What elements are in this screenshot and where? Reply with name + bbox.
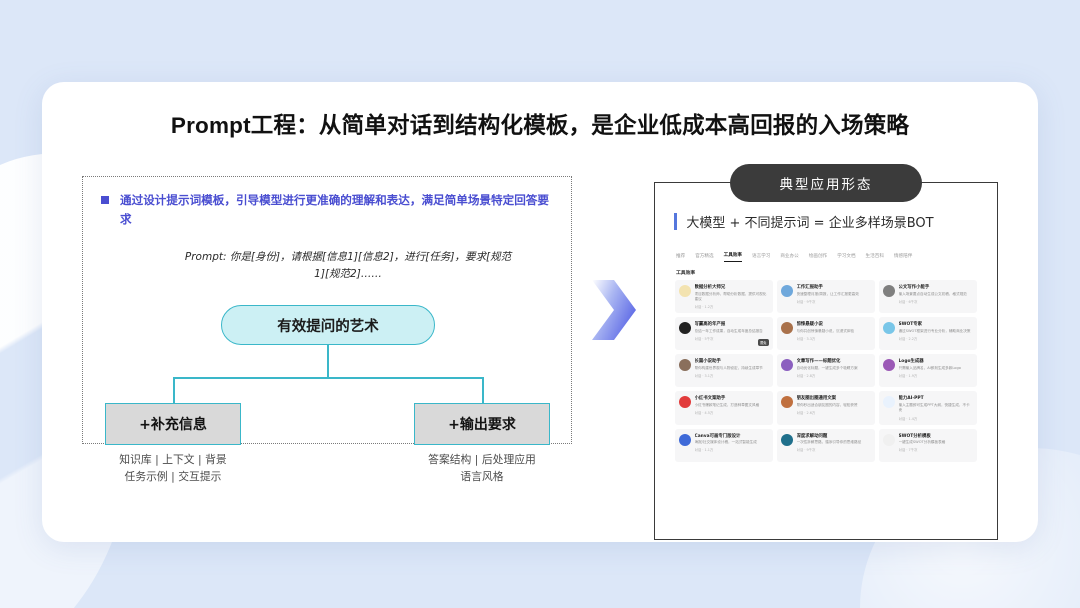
- card-body: 工作汇报助手快速整理月报/周报，让工作汇报更高效对话 · 9千次: [797, 284, 872, 309]
- card-meta: 对话 · 3.3万: [797, 336, 872, 341]
- card-description: 总结一年工作成果，自动生成年度总结报告: [695, 329, 770, 334]
- embedded-tab-6[interactable]: 学习文档: [837, 253, 855, 262]
- card-title: 长篇小说助手: [695, 358, 770, 364]
- card-avatar-icon: [883, 359, 895, 371]
- card-title: SWOT分析模板: [899, 433, 974, 439]
- left-panel: 通过设计提示词模板，引导模型进行更准确的理解和表达，满足简单场景特定回答要求 P…: [82, 176, 572, 444]
- card-avatar-icon: [781, 359, 793, 371]
- card-body: 长篇小说助手帮你构建世界观与人物设定，持续生成章节对话 · 3.1万: [695, 358, 770, 383]
- panel-pill-label: 典型应用形态: [730, 164, 922, 202]
- card-body: 朋友圈出圈通用文案帮你秒出适合朋友圈的内容，轻松获赞对话 · 2.6万: [797, 395, 872, 420]
- page-title: Prompt工程：从简单对话到结构化模板，是企业低成本高回报的入场策略: [42, 108, 1038, 140]
- card-body: SWOT专家通过SWOT框架进行专业分析，辅助商业决策对话 · 2.2万: [899, 321, 974, 346]
- bullet-row: 通过设计提示词模板，引导模型进行更准确的理解和表达，满足简单场景特定回答要求: [101, 191, 555, 229]
- embedded-tab-3[interactable]: 语言学习: [752, 253, 770, 262]
- flow-leaf-supplement: 知识库 | 上下文 | 背景 任务示例 | 交互提示: [78, 451, 268, 486]
- card-meta: 对话 · 9千次: [797, 299, 872, 304]
- embedded-card[interactable]: 小红书文案助手小红书爆款笔记生成，打造种草图文风格对话 · 4.5万: [675, 391, 773, 424]
- embedded-tab-4[interactable]: 商业办公: [780, 253, 798, 262]
- card-body: Logo生成器只需输入品牌名，AI即刻生成多款Logo对话 · 1.9万: [899, 358, 974, 383]
- right-arrow-icon: [590, 278, 638, 342]
- card-meta: 对话 · 2.2万: [899, 336, 974, 341]
- flow-leaf-supplement-line2: 任务示例 | 交互提示: [78, 468, 268, 485]
- bullet-text: 通过设计提示词模板，引导模型进行更准确的理解和表达，满足简单场景特定回答要求: [120, 191, 555, 229]
- card-title: 写赢高的年产报: [695, 321, 770, 327]
- card-description: 小红书爆款笔记生成，打造种草图文风格: [695, 403, 770, 408]
- card-badge: 限免: [758, 339, 769, 346]
- card-title: 公文写作小能手: [899, 284, 974, 290]
- embedded-tab-1[interactable]: 官方精选: [695, 253, 713, 262]
- embedded-card[interactable]: 能力AI-PPT输入主题即可生成PPT大纲，快捷生成，不卡壳对话 · 1.4万: [879, 391, 977, 424]
- embedded-card[interactable]: 深度求解动问题一次性拆解思路，循序引导你的思维路径对话 · 9千次: [777, 429, 875, 462]
- connector-right-branch: [482, 377, 484, 405]
- card-description: 海报/社交媒体设计稿，一站式智能生成: [695, 440, 770, 445]
- card-meta: 对话 · 1.9万: [899, 373, 974, 378]
- card-avatar-icon: [679, 322, 691, 334]
- embedded-tab-8[interactable]: 情感陪伴: [894, 253, 912, 262]
- card-description: 通过SWOT框架进行专业分析，辅助商业决策: [899, 329, 974, 334]
- card-avatar-icon: [883, 396, 895, 408]
- card-meta: 对话 · 7千次: [899, 447, 974, 452]
- flow-leaf-supplement-line1: 知识库 | 上下文 | 背景: [78, 451, 268, 468]
- embedded-card[interactable]: 数据分析大师兄项目数据分析师，帮助分析数据，提供可视化建议对话 · 1.2万: [675, 280, 773, 313]
- card-avatar-icon: [781, 434, 793, 446]
- card-body: 能力AI-PPT输入主题即可生成PPT大纲，快捷生成，不卡壳对话 · 1.4万: [899, 395, 974, 420]
- card-description: 项目数据分析师，帮助分析数据，提供可视化建议: [695, 292, 770, 303]
- card-description: 快速整理月报/周报，让工作汇报更高效: [797, 292, 872, 297]
- card-avatar-icon: [781, 285, 793, 297]
- card-meta: 对话 · 2.8万: [797, 373, 872, 378]
- embedded-card[interactable]: SWOT专家通过SWOT框架进行专业分析，辅助商业决策对话 · 2.2万: [879, 317, 977, 350]
- card-title: 朋友圈出圈通用文案: [797, 395, 872, 401]
- card-body: 公文写作小能手输入场景要点自动生成公文初稿，格式规范对话 · 6千次: [899, 284, 974, 309]
- card-description: 自动优化标题，一键生成多个吸睛方案: [797, 366, 872, 371]
- card-description: 只需输入品牌名，AI即刻生成多款Logo: [899, 366, 974, 371]
- flow-leaf-output: 答案结构 | 后处理应用 语言风格: [387, 451, 577, 486]
- card-avatar-icon: [883, 322, 895, 334]
- headline-text: 大模型 + 不同提示词 = 企业多样场景BOT: [686, 212, 933, 231]
- embedded-card[interactable]: 工作汇报助手快速整理月报/周报，让工作汇报更高效对话 · 9千次: [777, 280, 875, 313]
- slide-card: Prompt工程：从简单对话到结构化模板，是企业低成本高回报的入场策略 通过设计…: [42, 82, 1038, 542]
- card-title: 文章写作——标题优化: [797, 358, 872, 364]
- embedded-section-title: 工具效率: [676, 269, 986, 276]
- card-avatar-icon: [883, 285, 895, 297]
- card-body: 惊悚悬疑小说与你共创惊悚悬疑小说，沉浸式体验对话 · 3.3万: [797, 321, 872, 346]
- card-description: 一键生成SWOT分析模板表格: [899, 440, 974, 445]
- card-description: 与你共创惊悚悬疑小说，沉浸式体验: [797, 329, 872, 334]
- card-avatar-icon: [883, 434, 895, 446]
- embedded-tab-2[interactable]: 工具效率: [724, 252, 742, 262]
- card-body: 深度求解动问题一次性拆解思路，循序引导你的思维路径对话 · 9千次: [797, 433, 872, 458]
- card-title: SWOT专家: [899, 321, 974, 327]
- embedded-card[interactable]: 写赢高的年产报总结一年工作成果，自动生成年度总结报告对话 · 5千次限免: [675, 317, 773, 350]
- card-title: 工作汇报助手: [797, 284, 872, 290]
- card-body: 数据分析大师兄项目数据分析师，帮助分析数据，提供可视化建议对话 · 1.2万: [695, 284, 770, 309]
- embedded-app-screenshot: 推荐官方精选工具效率语言学习商业办公绘画创作学习文档生活百科情感陪伴 工具效率 …: [666, 244, 986, 526]
- card-description: 输入场景要点自动生成公文初稿，格式规范: [899, 292, 974, 297]
- embedded-tab-7[interactable]: 生活百科: [866, 253, 884, 262]
- card-title: 数据分析大师兄: [695, 284, 770, 290]
- connector-left-branch: [173, 377, 175, 405]
- card-avatar-icon: [679, 285, 691, 297]
- embedded-card[interactable]: Canva可画专门版设计海报/社交媒体设计稿，一站式智能生成对话 · 1.1万: [675, 429, 773, 462]
- card-meta: 对话 · 3.1万: [695, 373, 770, 378]
- card-meta: 对话 · 9千次: [797, 447, 872, 452]
- flow-branch-node-output: +输出要求: [414, 403, 550, 445]
- card-meta: 对话 · 6千次: [899, 299, 974, 304]
- card-description: 帮你秒出适合朋友圈的内容，轻松获赞: [797, 403, 872, 408]
- embedded-card[interactable]: 公文写作小能手输入场景要点自动生成公文初稿，格式规范对话 · 6千次: [879, 280, 977, 313]
- card-body: SWOT分析模板一键生成SWOT分析模板表格对话 · 7千次: [899, 433, 974, 458]
- headline-accent-bar: [674, 213, 677, 230]
- card-title: Canva可画专门版设计: [695, 433, 770, 439]
- flow-leaf-output-line1: 答案结构 | 后处理应用: [387, 451, 577, 468]
- card-avatar-icon: [679, 396, 691, 408]
- embedded-tab-5[interactable]: 绘画创作: [809, 253, 827, 262]
- square-bullet-icon: [101, 196, 109, 204]
- embedded-tab-0[interactable]: 推荐: [676, 253, 685, 262]
- card-body: 小红书文案助手小红书爆款笔记生成，打造种草图文风格对话 · 4.5万: [695, 395, 770, 420]
- card-body: 文章写作——标题优化自动优化标题，一键生成多个吸睛方案对话 · 2.8万: [797, 358, 872, 383]
- flow-root-node: 有效提问的艺术: [221, 305, 435, 345]
- prompt-example-text: Prompt: 你是[身份]，请根据[信息1][信息2]，进行[任务]，要求[规…: [183, 249, 513, 284]
- card-title: 能力AI-PPT: [899, 395, 974, 401]
- card-meta: 对话 · 2.6万: [797, 410, 872, 415]
- card-meta: 对话 · 1.2万: [695, 304, 770, 309]
- connector-horizontal: [173, 377, 483, 379]
- card-description: 帮你构建世界观与人物设定，持续生成章节: [695, 366, 770, 371]
- card-meta: 对话 · 4.5万: [695, 410, 770, 415]
- embedded-card[interactable]: 文章写作——标题优化自动优化标题，一键生成多个吸睛方案对话 · 2.8万: [777, 354, 875, 387]
- embedded-card[interactable]: SWOT分析模板一键生成SWOT分析模板表格对话 · 7千次: [879, 429, 977, 462]
- card-body: Canva可画专门版设计海报/社交媒体设计稿，一站式智能生成对话 · 1.1万: [695, 433, 770, 458]
- embedded-card-grid: 数据分析大师兄项目数据分析师，帮助分析数据，提供可视化建议对话 · 1.2万工作…: [666, 280, 986, 462]
- card-avatar-icon: [781, 322, 793, 334]
- flow-branch-node-supplement: +补充信息: [105, 403, 241, 445]
- embedded-card[interactable]: 长篇小说助手帮你构建世界观与人物设定，持续生成章节对话 · 3.1万: [675, 354, 773, 387]
- card-description: 一次性拆解思路，循序引导你的思维路径: [797, 440, 872, 445]
- embedded-tab-bar[interactable]: 推荐官方精选工具效率语言学习商业办公绘画创作学习文档生活百科情感陪伴: [666, 244, 986, 262]
- card-meta: 对话 · 1.4万: [899, 416, 974, 421]
- embedded-card[interactable]: 朋友圈出圈通用文案帮你秒出适合朋友圈的内容，轻松获赞对话 · 2.6万: [777, 391, 875, 424]
- connector-stem: [327, 345, 329, 379]
- embedded-card[interactable]: 惊悚悬疑小说与你共创惊悚悬疑小说，沉浸式体验对话 · 3.3万: [777, 317, 875, 350]
- card-avatar-icon: [679, 359, 691, 371]
- flow-leaf-output-line2: 语言风格: [387, 468, 577, 485]
- card-avatar-icon: [679, 434, 691, 446]
- card-title: 深度求解动问题: [797, 433, 872, 439]
- card-meta: 对话 · 1.1万: [695, 447, 770, 452]
- card-title: Logo生成器: [899, 358, 974, 364]
- card-avatar-icon: [781, 396, 793, 408]
- right-panel-headline: 大模型 + 不同提示词 = 企业多样场景BOT: [674, 212, 934, 231]
- embedded-card[interactable]: Logo生成器只需输入品牌名，AI即刻生成多款Logo对话 · 1.9万: [879, 354, 977, 387]
- card-title: 惊悚悬疑小说: [797, 321, 872, 327]
- card-description: 输入主题即可生成PPT大纲，快捷生成，不卡壳: [899, 403, 974, 414]
- card-title: 小红书文案助手: [695, 395, 770, 401]
